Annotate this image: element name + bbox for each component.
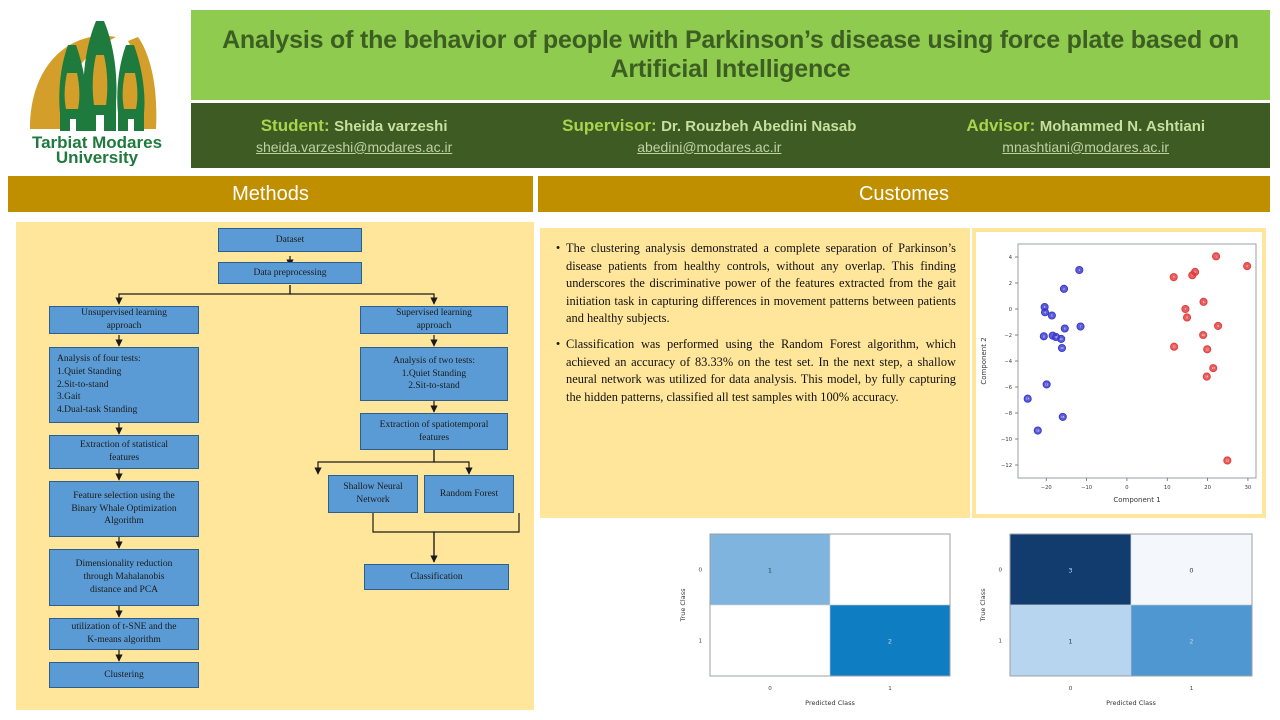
svg-text:0: 0	[698, 568, 702, 574]
node-label: Random Forest	[428, 488, 510, 501]
node-label: Feature selection using theBinary Whale …	[53, 490, 195, 528]
node-label: Data preprocessing	[222, 267, 358, 280]
section-header-outcomes: Customes	[538, 176, 1270, 212]
svg-text:True Class: True Class	[979, 588, 987, 623]
svg-text:1: 1	[698, 639, 702, 645]
author-email-link[interactable]: sheida.varzeshi@modares.ac.ir	[256, 139, 452, 157]
author-email-link[interactable]: mnashtiani@modares.ac.ir	[966, 139, 1205, 157]
svg-text:−10: −10	[1001, 437, 1012, 443]
methods-flowchart: Dataset Data preprocessing Unsupervised …	[16, 222, 534, 710]
poster-title: Analysis of the behavior of people with …	[209, 26, 1252, 85]
svg-text:10: 10	[1164, 485, 1171, 491]
svg-text:1: 1	[1068, 638, 1072, 646]
svg-text:14: 14	[1205, 375, 1209, 379]
node-label: Analysis of four tests:1.Quiet Standing2…	[57, 353, 195, 417]
svg-text:0: 0	[768, 686, 772, 692]
svg-text:−12: −12	[1001, 463, 1012, 469]
flow-node-dim-reduction[interactable]: Dimensionality reductionthrough Mahalano…	[49, 549, 199, 606]
poster-root: Tarbiat Modares University Analysis of t…	[0, 0, 1280, 720]
section-header-methods: Methods	[8, 176, 533, 212]
flow-node-preprocessing[interactable]: Data preprocessing	[218, 262, 362, 284]
author-student: Student: Sheida varzeshi sheida.varzeshi…	[256, 115, 452, 157]
node-label: Classification	[368, 571, 505, 584]
svg-text:11: 11	[1060, 337, 1064, 341]
svg-text:−8: −8	[1004, 411, 1012, 417]
svg-text:Component 1: Component 1	[1113, 496, 1160, 504]
node-label: Shallow NeuralNetwork	[332, 481, 414, 507]
flow-node-spatiotemporal[interactable]: Extraction of spatiotemporalfeatures	[360, 413, 508, 450]
poster-title-bar: Analysis of the behavior of people with …	[191, 10, 1270, 100]
author-name-label: Sheida varzeshi	[334, 118, 447, 135]
author-name-label: Mohammed N. Ashtiani	[1040, 118, 1205, 135]
flow-node-shallow-nn[interactable]: Shallow NeuralNetwork	[328, 475, 418, 513]
svg-text:0: 0	[1189, 567, 1193, 575]
confusion-matrix-1-svg: 120101Predicted ClassTrue Class	[672, 522, 964, 714]
svg-text:1: 1	[998, 639, 1002, 645]
svg-text:0: 0	[998, 568, 1002, 574]
flow-node-unsupervised[interactable]: Unsupervised learningapproach	[49, 306, 199, 334]
confusion-matrix-random-forest-panel: 30120101Predicted ClassTrue Class	[972, 522, 1266, 714]
svg-text:−20: −20	[1041, 485, 1052, 491]
node-label: Clustering	[53, 669, 195, 682]
author-role-label: Advisor:	[966, 116, 1035, 135]
svg-text:13: 13	[1212, 366, 1216, 370]
flow-node-random-forest[interactable]: Random Forest	[424, 475, 514, 513]
svg-text:−10: −10	[1081, 485, 1092, 491]
svg-text:−6: −6	[1004, 385, 1012, 391]
node-label: Analysis of two tests:1.Quiet Standing2.…	[364, 355, 504, 393]
svg-text:3: 3	[1068, 567, 1072, 575]
svg-text:1: 1	[768, 567, 772, 575]
svg-text:Predicted Class: Predicted Class	[1106, 699, 1156, 707]
author-supervisor: Supervisor: Dr. Rouzbeh Abedini Nasab ab…	[562, 115, 856, 157]
flow-node-dataset[interactable]: Dataset	[218, 228, 362, 252]
node-label: Supervised learningapproach	[364, 307, 504, 333]
svg-text:Predicted Class: Predicted Class	[805, 699, 855, 707]
flow-node-four-tests[interactable]: Analysis of four tests:1.Quiet Standing2…	[49, 347, 199, 423]
svg-text:16: 16	[1036, 429, 1040, 433]
list-item: • Classification was performed using the…	[550, 336, 956, 406]
node-label: Dataset	[222, 234, 358, 247]
bullet-icon: •	[550, 336, 566, 406]
author-name-label: Dr. Rouzbeh Abedini Nasab	[661, 118, 856, 135]
flow-node-two-tests[interactable]: Analysis of two tests:1.Quiet Standing2.…	[360, 347, 508, 401]
flow-node-stat-features[interactable]: Extraction of statisticalfeatures	[49, 435, 199, 469]
svg-text:2: 2	[888, 638, 892, 646]
list-item: • The clustering analysis demonstrated a…	[550, 240, 956, 328]
methods-panel: Dataset Data preprocessing Unsupervised …	[16, 222, 534, 710]
svg-text:14: 14	[1026, 397, 1030, 401]
svg-text:12: 12	[1206, 347, 1210, 351]
cluster-scatter-chart: −20−100102030420−2−4−6−8−10−12Component …	[972, 228, 1266, 518]
svg-text:1: 1	[888, 686, 892, 692]
svg-text:0: 0	[1069, 686, 1073, 692]
svg-text:0: 0	[1009, 307, 1012, 313]
flow-node-feature-selection[interactable]: Feature selection using theBinary Whale …	[49, 481, 199, 537]
flow-node-clustering[interactable]: Clustering	[49, 662, 199, 688]
svg-text:15: 15	[1226, 458, 1230, 462]
author-role-label: Student:	[261, 116, 330, 135]
bullet-text: Classification was performed using the R…	[566, 336, 956, 406]
confusion-matrix-random-forest-chart: 30120101Predicted ClassTrue Class	[972, 522, 1266, 714]
svg-text:11: 11	[1172, 345, 1176, 349]
svg-text:0: 0	[1125, 485, 1128, 491]
svg-text:−4: −4	[1004, 359, 1012, 365]
authors-bar: Student: Sheida varzeshi sheida.varzeshi…	[191, 103, 1270, 168]
author-email-link[interactable]: abedini@modares.ac.ir	[562, 139, 856, 157]
outcomes-text-panel: • The clustering analysis demonstrated a…	[540, 228, 970, 518]
confusion-matrix-2-svg: 30120101Predicted ClassTrue Class	[972, 522, 1266, 714]
svg-text:13: 13	[1045, 382, 1049, 386]
node-label: Dimensionality reductionthrough Mahalano…	[53, 558, 195, 596]
svg-text:15: 15	[1061, 415, 1065, 419]
logo-line2: University	[56, 148, 139, 166]
bullet-text: The clustering analysis demonstrated a c…	[566, 240, 956, 328]
node-label: Extraction of statisticalfeatures	[53, 439, 195, 465]
confusion-matrix-shallow-nn-chart: 120101Predicted ClassTrue Class	[672, 522, 964, 714]
flow-node-supervised[interactable]: Supervised learningapproach	[360, 306, 508, 334]
author-advisor: Advisor: Mohammed N. Ashtiani mnashtiani…	[966, 115, 1205, 157]
svg-text:−2: −2	[1004, 333, 1012, 339]
university-logo: Tarbiat Modares University	[8, 8, 186, 168]
svg-text:2: 2	[1009, 281, 1012, 287]
cluster-scatter-panel: −20−100102030420−2−4−6−8−10−12Component …	[972, 228, 1266, 518]
scatter-svg: −20−100102030420−2−4−6−8−10−12Component …	[972, 228, 1266, 518]
svg-text:10: 10	[1201, 333, 1205, 337]
logo-graphic: Tarbiat Modares University	[12, 11, 182, 166]
svg-text:20: 20	[1204, 485, 1211, 491]
svg-text:Component 2: Component 2	[980, 337, 988, 384]
svg-text:12: 12	[1060, 346, 1064, 350]
confusion-matrix-shallow-nn-panel: 120101Predicted ClassTrue Class	[672, 522, 964, 714]
flow-node-tsne-kmeans[interactable]: utilization of t-SNE and theK-means algo…	[49, 618, 199, 650]
bullet-icon: •	[550, 240, 566, 328]
node-label: utilization of t-SNE and theK-means algo…	[53, 621, 195, 647]
svg-text:True Class: True Class	[679, 588, 687, 623]
svg-text:30: 30	[1245, 485, 1252, 491]
author-role-label: Supervisor:	[562, 116, 656, 135]
svg-text:1: 1	[1190, 686, 1194, 692]
outcomes-bullet-list: • The clustering analysis demonstrated a…	[540, 228, 970, 424]
svg-text:2: 2	[1189, 638, 1193, 646]
flow-node-classification[interactable]: Classification	[364, 564, 509, 590]
node-label: Extraction of spatiotemporalfeatures	[364, 419, 504, 445]
node-label: Unsupervised learningapproach	[53, 307, 195, 333]
